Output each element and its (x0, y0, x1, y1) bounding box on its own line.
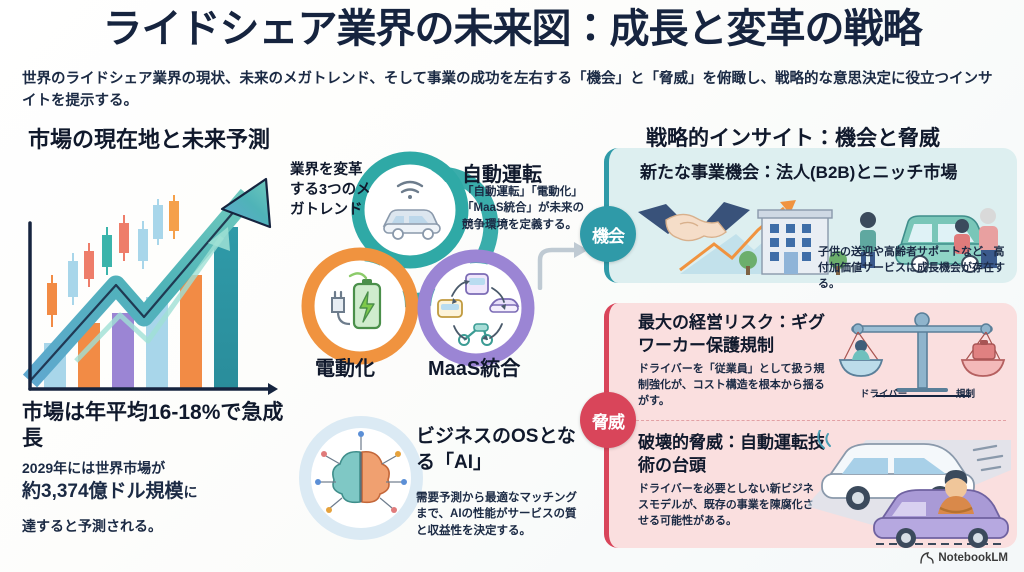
opportunity-title: 新たな事業機会：法人(B2B)とニッチ市場 (640, 158, 957, 183)
trend-maas-label: MaaS統合 (428, 352, 520, 381)
scale-label-regulation: 規制 (956, 386, 975, 400)
ai-title: ビジネスのOSとなる「AI」 (416, 424, 586, 476)
market-size-stat: 2029年には世界市場が 約3,374億ドル規模に (22, 458, 307, 506)
trend-autonomous-title: 自動運転 (462, 158, 542, 187)
page-title: ライドシェア業界の未来図：成長と変革の戦略 (0, 8, 1024, 50)
market-growth-stat: 市場は年平均16-18%で急成長 (22, 400, 302, 453)
market-size-suffix: に (184, 484, 198, 500)
threat-1-body: ドライバーを「従業員」として扱う規制強化が、コスト構造を根本から揺るがす。 (638, 362, 826, 410)
market-size-note: 達すると予測される。 (22, 517, 307, 537)
notebooklm-watermark: NotebookLM (920, 552, 1008, 564)
opportunity-body: 子供の送迎や高齢者サポートなど、高付加価値サービスに成長機会が存在する。 (818, 245, 1006, 293)
page-subtitle: 世界のライドシェア業界の現状、未来のメガトレンド、そして事業の成功を左右する「機… (22, 68, 1002, 113)
mega-trends-lead: 業界を変革する3つのメガトレンド (290, 160, 376, 220)
threat-2-body: ドライバーを必要としない新ビジネスモデルが、既存の事業を陳腐化させる可能性がある… (638, 482, 818, 530)
threat-1-title: 最大の経営リスク：ギグワーカー保護規制 (638, 312, 828, 358)
status-badge-threat: 脅威 (580, 392, 636, 448)
trend-ev-label: 電動化 (315, 352, 375, 381)
scale-label-driver: ドライバー (860, 386, 907, 400)
market-size-value: 約3,374億ドル規模 (22, 481, 184, 502)
infographic-canvas: ライドシェア業界の未来図：成長と変革の戦略 世界のライドシェア業界の現状、未来の… (0, 0, 1024, 572)
section-heading-market: 市場の現在地と未来予測 (28, 122, 270, 154)
status-badge-opportunity: 機会 (580, 206, 636, 262)
market-size-prefix: 2029年には世界市場が (22, 460, 165, 476)
notebooklm-label: NotebookLM (938, 552, 1008, 564)
threat-divider (636, 420, 1006, 421)
trend-autonomous-body: 「自動運転」「電動化」「MaaS統合」が未来の競争環境を定義する。 (462, 184, 594, 233)
ai-illustration (296, 404, 426, 556)
notebooklm-logo-icon (920, 552, 934, 564)
autonomous-vs-driver-illustration (806, 430, 1011, 548)
market-growth-chart (16, 165, 296, 400)
ai-body: 需要予測から最適なマッチングまで、AIの性能がサービスの質と収益性を決定する。 (416, 490, 584, 539)
